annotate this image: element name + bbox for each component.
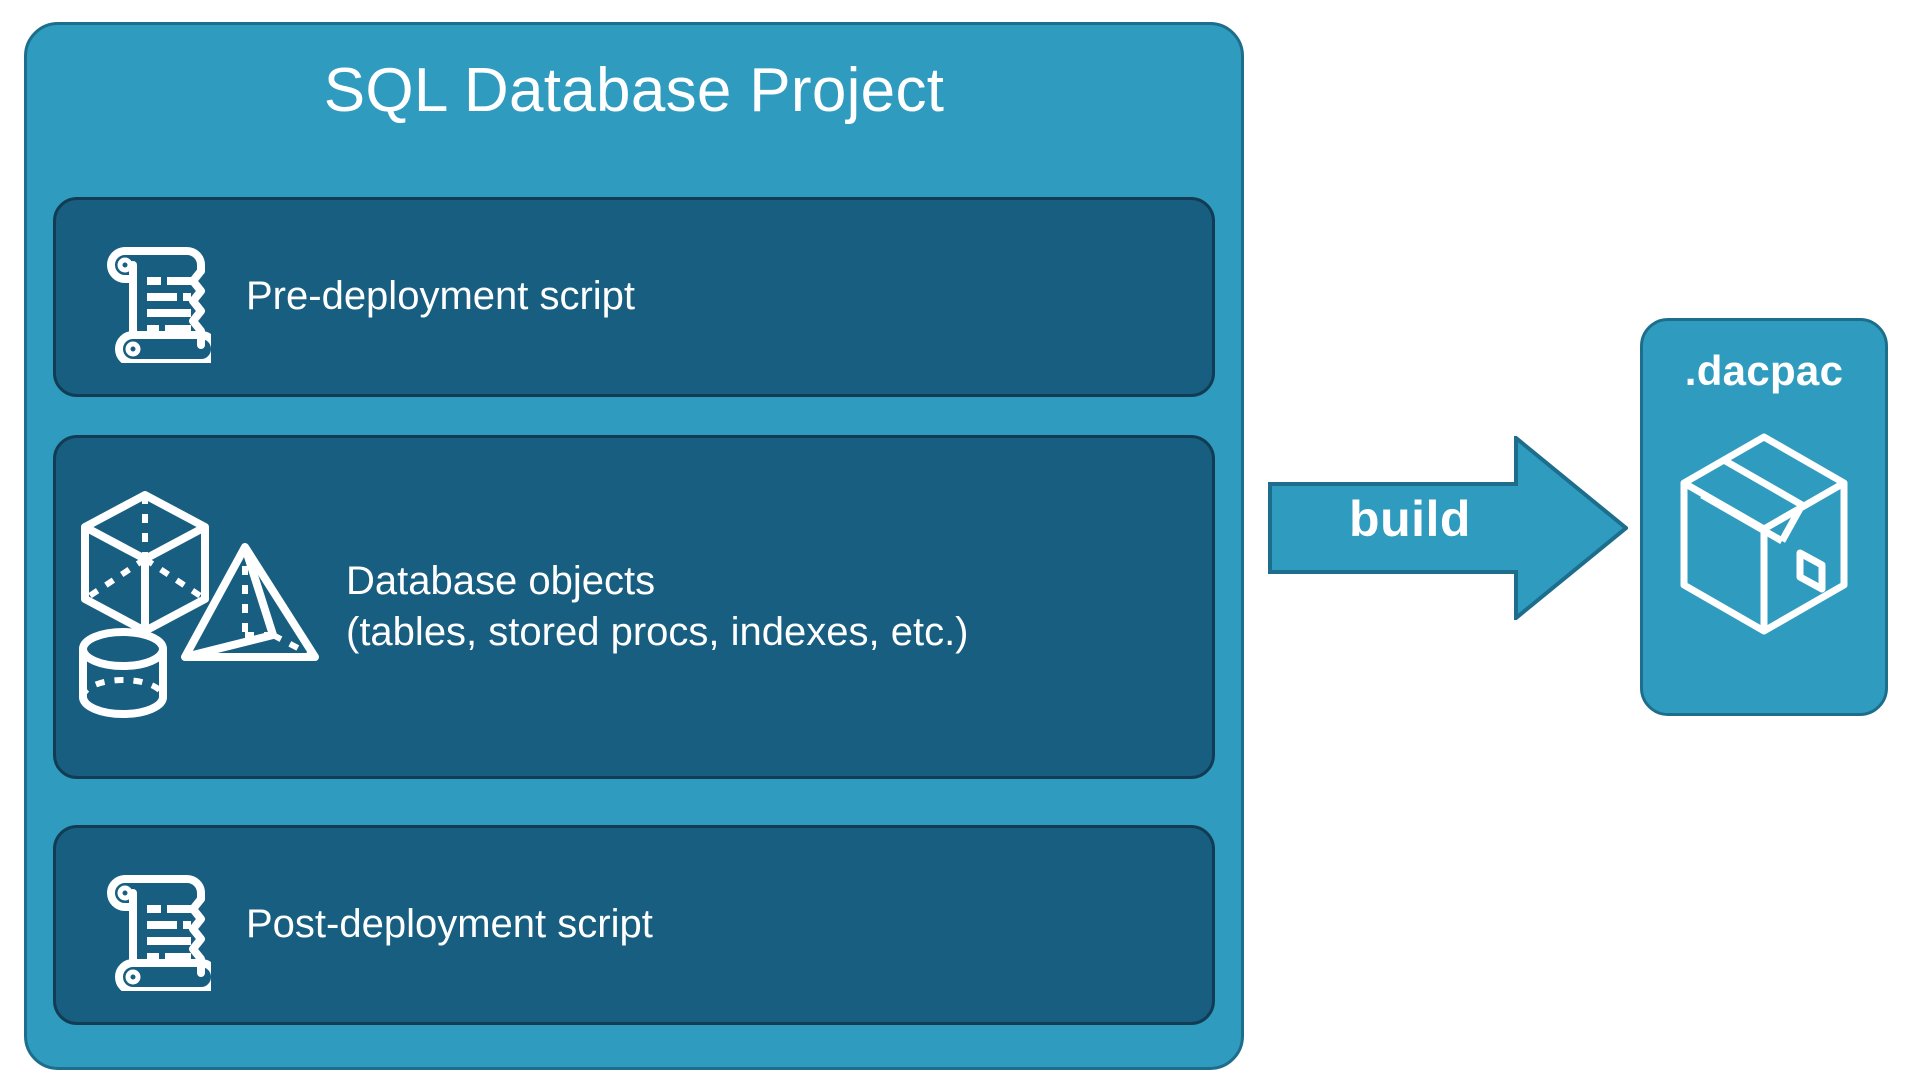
card-post-deployment-script: Post-deployment script <box>53 825 1215 1025</box>
card-label-database-objects: Database objects (tables, stored procs, … <box>346 556 969 658</box>
card-label-post-deployment: Post-deployment script <box>246 899 653 950</box>
scroll-icon <box>56 231 246 363</box>
dacpac-title: .dacpac <box>1643 347 1885 395</box>
package-box-icon <box>1674 425 1854 656</box>
card-label-pre-deployment: Pre-deployment script <box>246 271 635 322</box>
sql-database-project-container: SQL Database Project <box>24 22 1244 1070</box>
card-pre-deployment-script: Pre-deployment script <box>53 197 1215 397</box>
three-d-shapes-icon <box>56 481 346 733</box>
scroll-icon <box>56 859 246 991</box>
project-title: SQL Database Project <box>27 57 1241 125</box>
dacpac-output-panel: .dacpac <box>1640 318 1888 716</box>
build-arrow-icon <box>1268 436 1628 620</box>
card-database-objects: Database objects (tables, stored procs, … <box>53 435 1215 779</box>
diagram-canvas: SQL Database Project <box>0 0 1920 1080</box>
